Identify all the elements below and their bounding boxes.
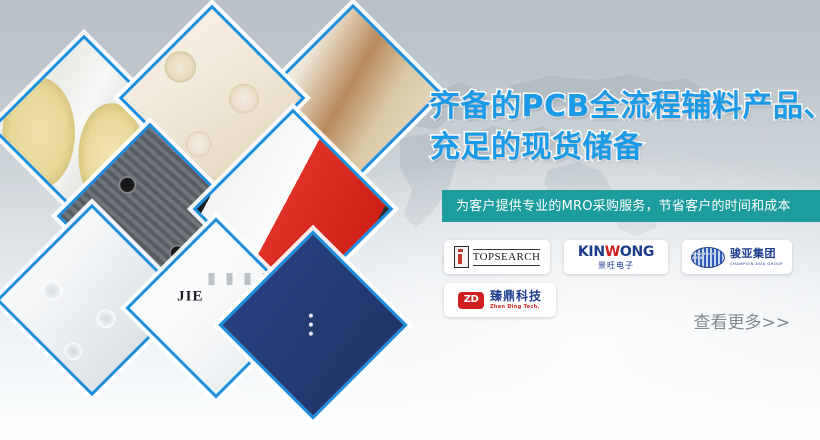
- champion-wordmark-cn: 骏亚集团: [730, 248, 783, 259]
- zhending-mark-icon: ZD: [458, 292, 484, 309]
- partner-logo-kinwong[interactable]: KINWONG 景旺电子: [564, 240, 668, 274]
- headline: 齐备的PCB全流程辅料产品、 充足的现货储备: [430, 86, 820, 169]
- product-collage: JIE: [0, 0, 440, 440]
- film-edge-dots: [304, 309, 313, 341]
- subtitle-text: 为客户提供专业的MRO采购服务，节省客户的时间和成本: [442, 200, 791, 213]
- partner-logo-row-2: ZD 臻鼎科技 Zhen Ding Tech.: [444, 283, 820, 317]
- hero-banner: JIE 齐备的PCB全流程辅料产品、 充足的现货储备 为客户提供专业的MRO采购…: [0, 0, 820, 440]
- partner-logo-champion-asia[interactable]: CHAMPION ASIA 骏亚集团 CHAMPION ASIA GROUP: [682, 240, 792, 274]
- view-more-link[interactable]: 查看更多>>: [694, 315, 791, 332]
- partner-logo-topsearch[interactable]: TOPSEARCH: [444, 240, 550, 274]
- topsearch-wordmark: TOPSEARCH: [473, 249, 541, 266]
- champion-wordmark-en: CHAMPION ASIA GROUP: [730, 262, 783, 266]
- subtitle-bar: 为客户提供专业的MRO采购服务，节省客户的时间和成本: [442, 190, 820, 222]
- partner-logo-row-1: TOPSEARCH KINWONG 景旺电子 CHAMPION ASIA: [444, 240, 820, 274]
- kinwong-wordmark: KINWONG: [578, 245, 654, 259]
- label-sheet-barcode: [209, 273, 265, 285]
- banner-content: 齐备的PCB全流程辅料产品、 充足的现货储备 为客户提供专业的MRO采购服务，节…: [430, 0, 820, 440]
- label-sheet-caption: JIE: [177, 289, 203, 306]
- topsearch-mark-icon: [454, 246, 469, 268]
- kinwong-wordmark-b: ONG: [620, 244, 654, 260]
- kinwong-wordmark-a: KIN: [578, 244, 605, 260]
- zhending-wordmark-cn: 臻鼎科技: [490, 290, 542, 302]
- globe-icon: CHAMPION ASIA: [691, 247, 725, 268]
- headline-line-2: 充足的现货储备: [430, 127, 820, 168]
- zhending-wordmark-en: Zhen Ding Tech.: [490, 305, 542, 310]
- kinwong-subtitle-cn: 景旺电子: [578, 262, 654, 270]
- champion-globe-text: CHAMPION ASIA: [692, 253, 724, 260]
- kinwong-wordmark-w: W: [605, 244, 620, 260]
- headline-line-1: 齐备的PCB全流程辅料产品、: [430, 86, 820, 127]
- partner-logo-zhending[interactable]: ZD 臻鼎科技 Zhen Ding Tech.: [444, 283, 556, 317]
